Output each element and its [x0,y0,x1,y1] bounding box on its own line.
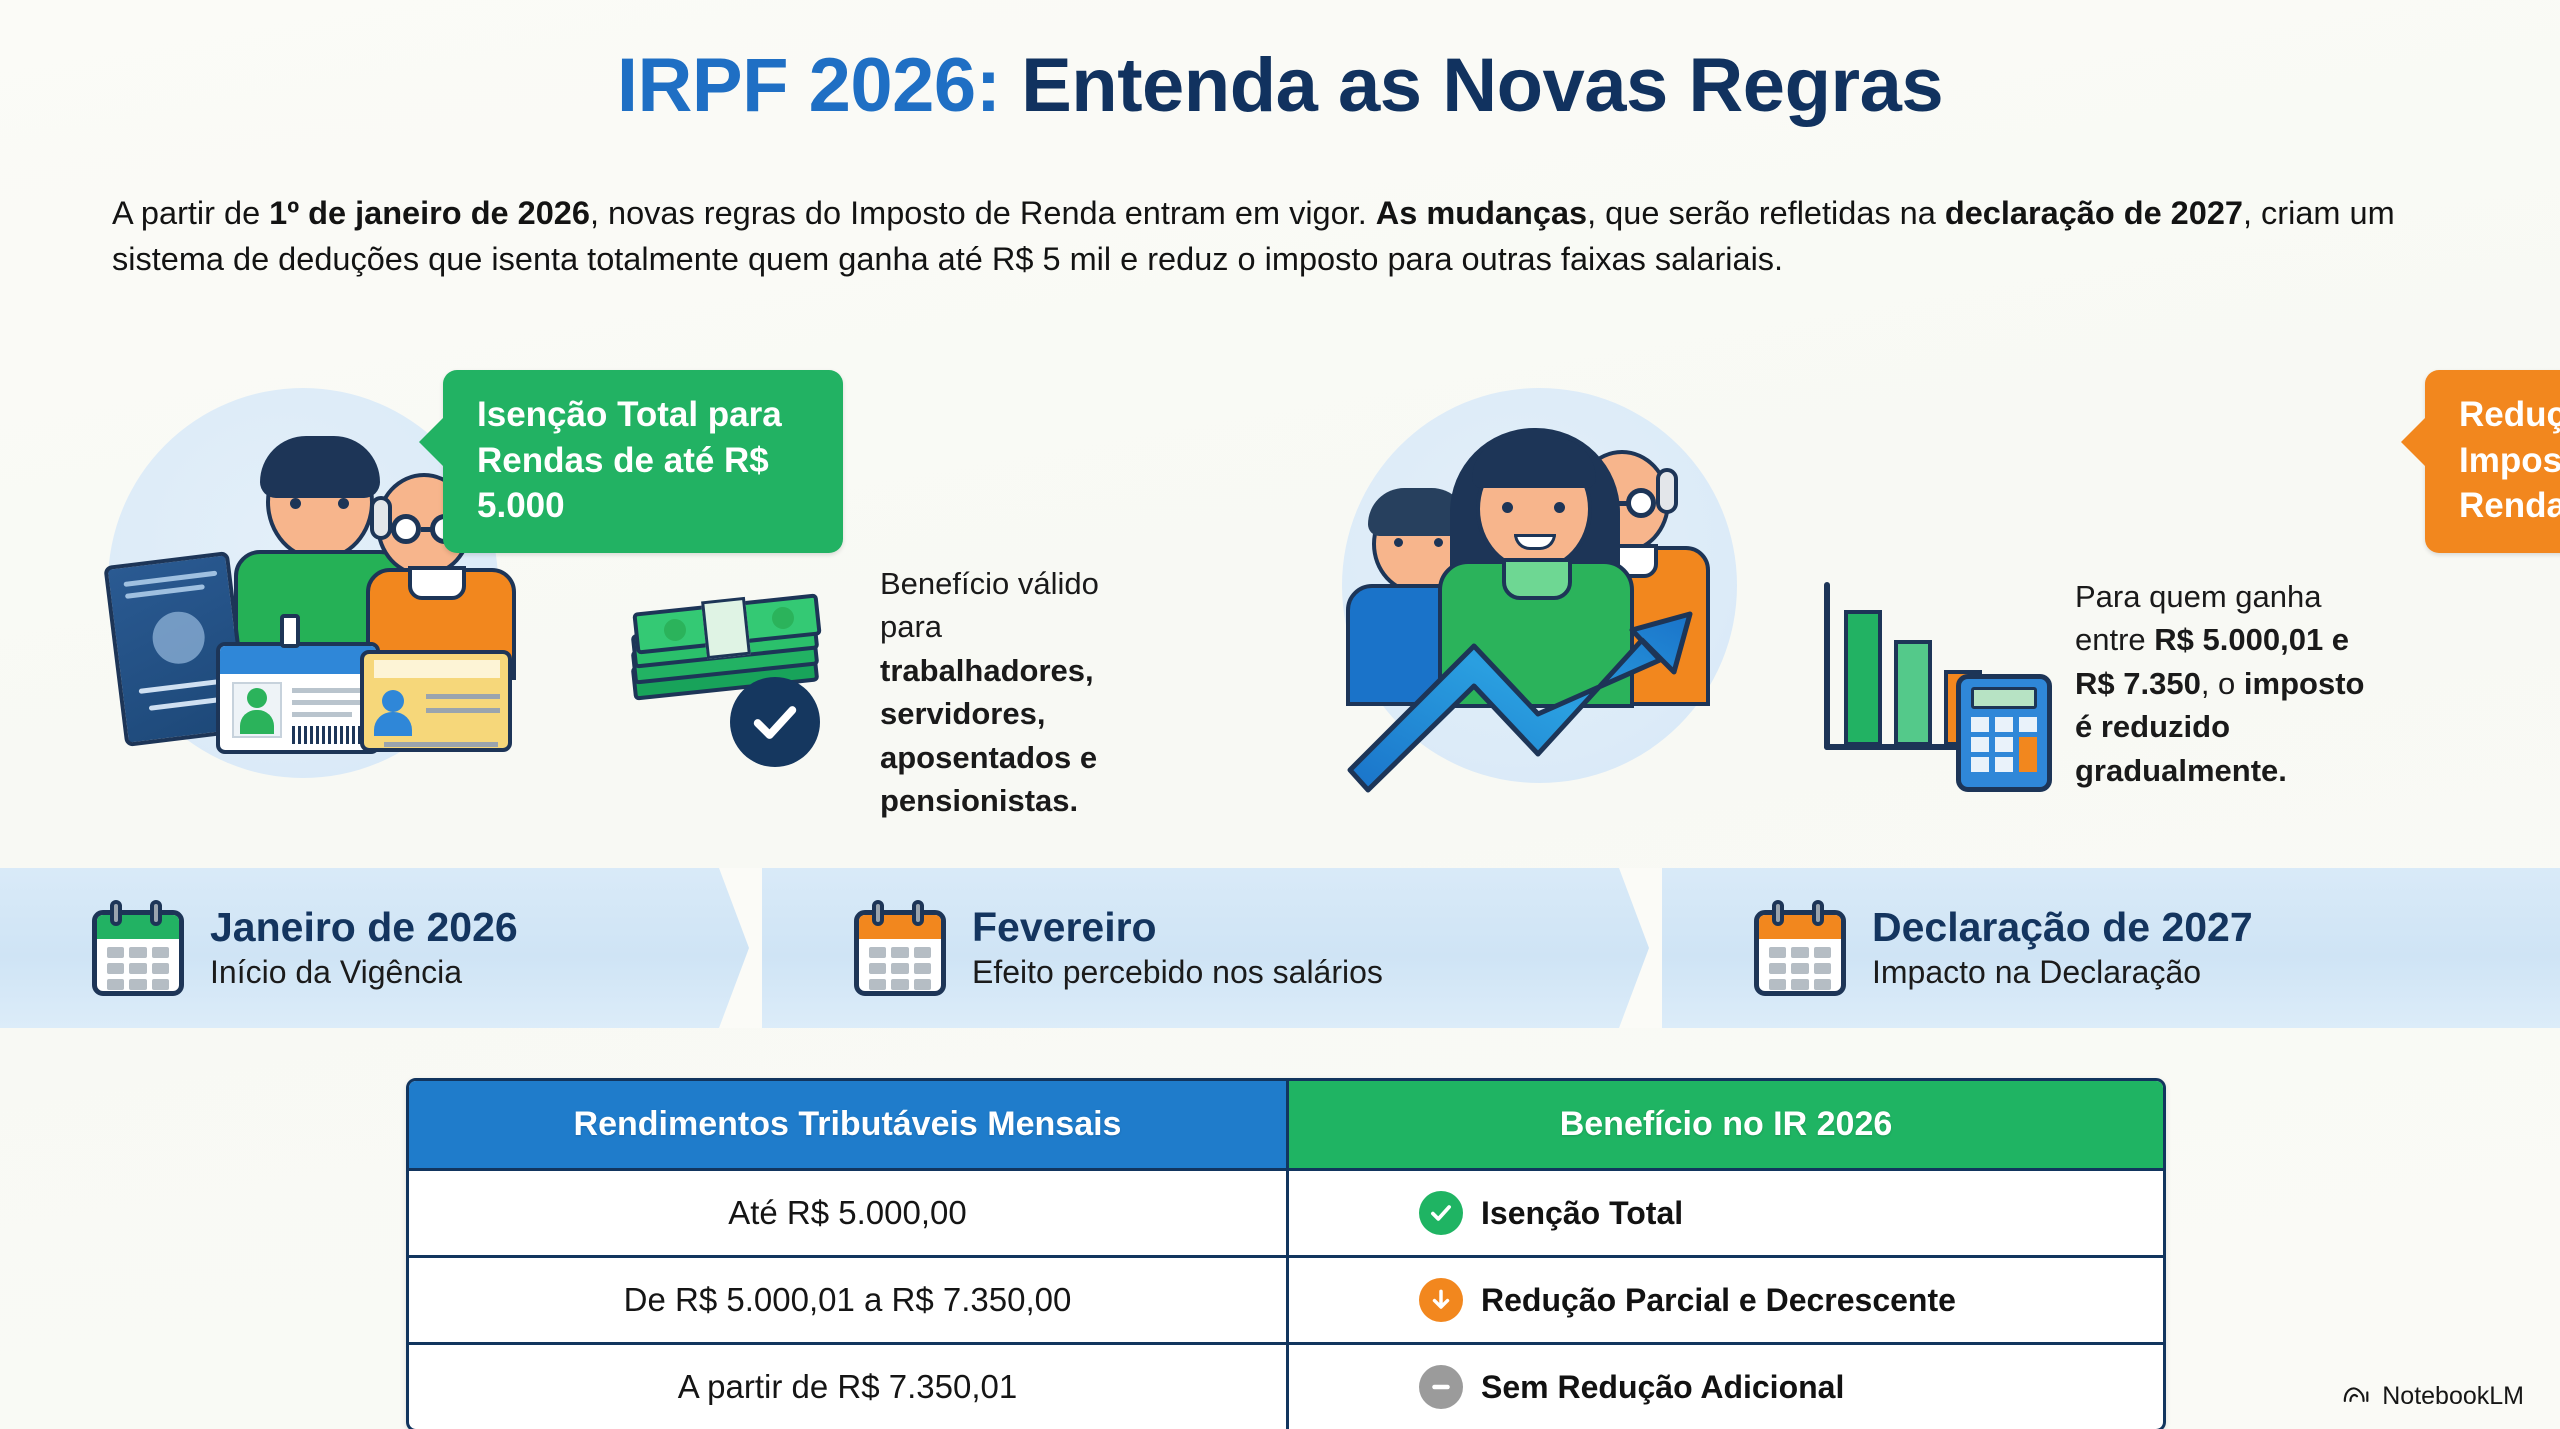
benefits-table: Rendimentos Tributáveis Mensais Benefíci… [406,1078,2166,1429]
table-row: A partir de R$ 7.350,01 Sem Redução Adic… [409,1342,2163,1429]
benefit-value: Isenção Total [1481,1195,1683,1232]
intro-text-2: , novas regras do Imposto de Renda entra… [590,195,1376,231]
left-desc-text: Benefício válido para [880,566,1099,644]
calendar-icon [1754,900,1846,996]
notebooklm-logo-icon [2342,1381,2372,1411]
chart-bar-1 [1844,610,1882,746]
callout-reducao-imposto: Redução do Imposto para Rendas até R$ 7.… [2425,370,2560,553]
range-value: De R$ 5.000,01 a R$ 7.350,00 [624,1281,1072,1319]
callout-tail-left [419,416,445,468]
table-row: Até R$ 5.000,00 Isenção Total [409,1168,2163,1255]
glasses-lens-left [391,514,421,544]
feature-block-reducao: Redução do Imposto para Rendas até R$ 7.… [1320,370,2530,815]
table-cell-range: De R$ 5.000,01 a R$ 7.350,00 [409,1258,1289,1342]
person-elder-hair-left [370,496,392,540]
table-header-cell-rendimentos: Rendimentos Tributáveis Mensais [409,1081,1289,1168]
intro-bold-date: 1º de janeiro de 2026 [269,195,590,231]
callout-tail-left [2401,416,2427,468]
range-value: Até R$ 5.000,00 [728,1194,967,1232]
page-title: IRPF 2026: Entenda as Novas Regras [0,42,2560,129]
timeline-band: Janeiro de 2026 Início da Vigência Fever… [0,868,2560,1028]
growth-arrow-icon [1342,518,1762,808]
person-elder-collar [408,566,466,600]
notebooklm-label: NotebookLM [2382,1382,2524,1411]
timeline-chevron-separator [1619,868,1663,1028]
table-cell-benefit: Sem Redução Adicional [1289,1345,2163,1429]
title-accent: IRPF 2026: [617,43,1001,128]
intro-bold-declaration: declaração de 2027 [1945,195,2243,231]
benefit-value: Sem Redução Adicional [1481,1369,1844,1406]
callout-reducao-label: Redução do Imposto para Rendas até R$ 7.… [2459,395,2560,525]
callout-isencao-label: Isenção Total para Rendas de até R$ 5.00… [477,395,782,525]
timeline-title: Fevereiro [972,905,1383,951]
callout-isencao-total: Isenção Total para Rendas de até R$ 5.00… [443,370,843,553]
person-young-eye-left [290,498,301,509]
table-cell-benefit: Isenção Total [1289,1171,2163,1255]
check-icon [1419,1191,1463,1235]
id-badge-clip [280,614,300,648]
right-description: Para quem ganha entre R$ 5.000,01 e R$ 7… [2075,575,2375,792]
glasses2-lens-right [1626,488,1656,518]
timeline-item-janeiro[interactable]: Janeiro de 2026 Início da Vigência [0,868,762,1028]
money-stack-illustration [620,585,850,775]
arrow-down-icon [1419,1278,1463,1322]
table-cell-range: A partir de R$ 7.350,01 [409,1345,1289,1429]
timeline-title: Declaração de 2027 [1872,905,2253,951]
range-value: A partir de R$ 7.350,01 [678,1368,1017,1406]
table-header-cell-beneficio: Benefício no IR 2026 [1289,1081,2163,1168]
timeline-item-declaracao[interactable]: Declaração de 2027 Impacto na Declaração [1662,868,2560,1028]
intro-paragraph: A partir de 1º de janeiro de 2026, novas… [112,190,2452,282]
title-main: Entenda as Novas Regras [1001,43,1944,128]
timeline-chevron-separator [719,868,763,1028]
benefit-value: Redução Parcial e Decrescente [1481,1282,1956,1319]
left-description: Benefício válido para trabalhadores, ser… [880,562,1148,822]
calculator-icon [1956,674,2052,792]
chart-axis-y [1824,582,1830,750]
left-desc-bold: trabalhadores, servidores, aposentados e… [880,653,1097,818]
timeline-title: Janeiro de 2026 [210,905,518,951]
table-header-row: Rendimentos Tributáveis Mensais Benefíci… [409,1081,2163,1168]
feature-block-isencao: Isenção Total para Rendas de até R$ 5.00… [60,370,1290,815]
table-cell-range: Até R$ 5.000,00 [409,1171,1289,1255]
timeline-item-fevereiro[interactable]: Fevereiro Efeito percebido nos salários [762,868,1662,1028]
infographic-page: IRPF 2026: Entenda as Novas Regras A par… [0,0,2560,1429]
minus-icon [1419,1365,1463,1409]
table-header-label: Rendimentos Tributáveis Mensais [574,1105,1122,1144]
intro-text-1: A partir de [112,195,269,231]
timeline-subtitle: Impacto na Declaração [1872,953,2253,991]
intro-text-3: , que serão refletidas na [1587,195,1945,231]
right-illustration [1342,388,1762,808]
intro-bold-changes: As mudanças [1376,195,1587,231]
social-security-card [360,650,512,752]
table-cell-benefit: Redução Parcial e Decrescente [1289,1258,2163,1342]
person-young-hair [260,436,380,498]
bar-chart-illustration [1818,570,2038,770]
right-desc-text-2: , o [2201,666,2244,701]
chart-bar-2 [1894,640,1932,746]
check-circle-icon [730,677,820,767]
timeline-subtitle: Início da Vigência [210,953,518,991]
glasses-bridge [421,527,433,532]
id-badge-card [216,642,380,754]
person-young-eye-right [338,498,349,509]
notebooklm-watermark: NotebookLM [2342,1381,2524,1411]
timeline-subtitle: Efeito percebido nos salários [972,953,1383,991]
table-row: De R$ 5.000,01 a R$ 7.350,00 Redução Par… [409,1255,2163,1342]
calendar-icon [854,900,946,996]
table-header-label: Benefício no IR 2026 [1560,1105,1893,1144]
calendar-icon [92,900,184,996]
